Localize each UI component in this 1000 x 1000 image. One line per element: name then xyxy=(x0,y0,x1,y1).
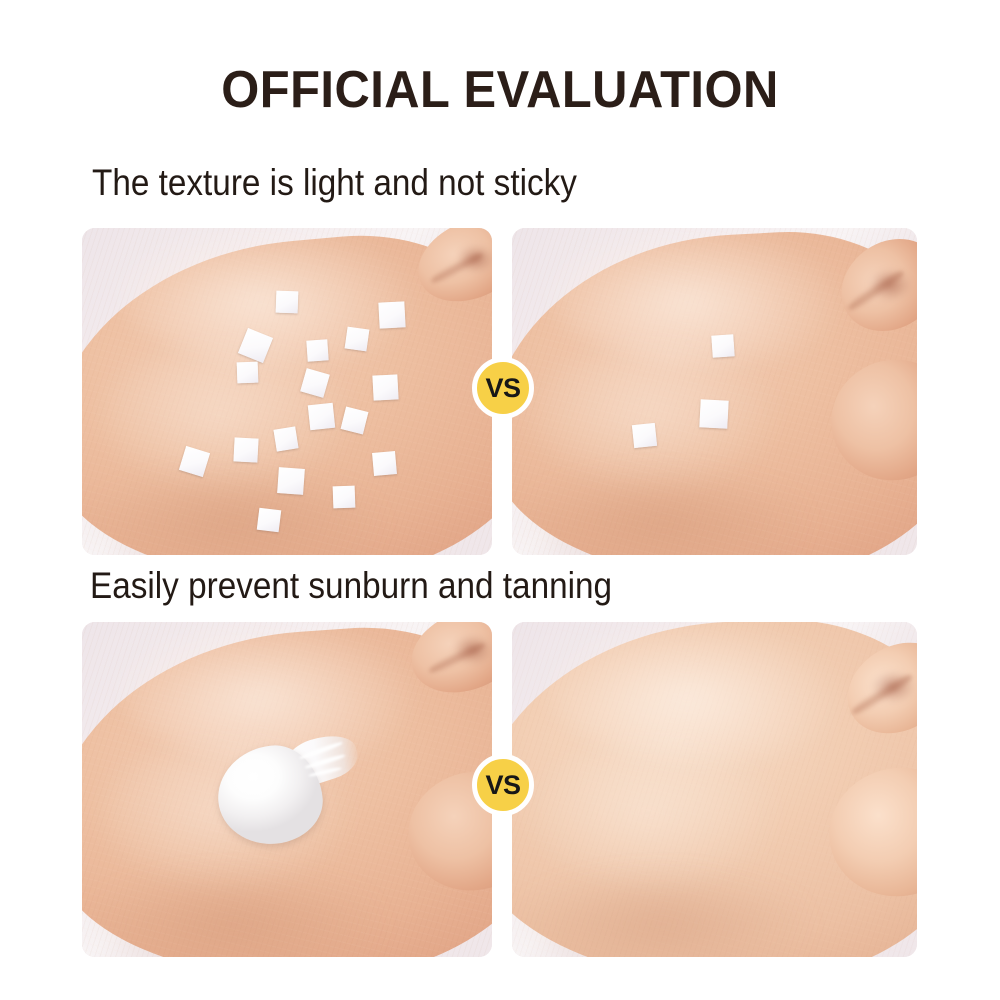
paper-chip xyxy=(273,426,298,451)
vs-badge-row2: VS xyxy=(472,754,534,816)
paper-chip xyxy=(306,339,328,361)
paper-chip xyxy=(333,486,356,509)
finger-gap-shadow xyxy=(450,634,492,666)
paper-chip xyxy=(345,327,370,352)
photo-panel-hand-with-cream[interactable] xyxy=(82,622,492,957)
photo-panel-hand-with-many-chips[interactable] xyxy=(82,228,492,555)
page-title: OFFICIAL EVALUATION xyxy=(30,60,970,120)
paper-chip xyxy=(276,291,299,314)
paper-chip xyxy=(372,374,398,400)
section-caption-texture: The texture is light and not sticky xyxy=(92,162,577,204)
paper-chip xyxy=(711,334,734,357)
finger-gap-shadow xyxy=(867,670,917,704)
paper-chip xyxy=(257,508,282,533)
cream-dollop xyxy=(212,732,362,847)
photo-image xyxy=(512,622,917,957)
photo-image xyxy=(82,228,492,555)
section-caption-sunburn: Easily prevent sunburn and tanning xyxy=(90,565,612,607)
paper-chip xyxy=(237,362,259,384)
product-evaluation-graphic: OFFICIAL EVALUATION The texture is light… xyxy=(0,0,1000,1000)
paper-chip xyxy=(233,437,258,462)
paper-chip xyxy=(277,467,305,495)
paper-chip xyxy=(632,423,657,448)
photo-panel-hand-with-few-chips[interactable] xyxy=(512,228,917,555)
paper-chip xyxy=(372,451,397,476)
photo-image xyxy=(512,228,917,555)
paper-chip xyxy=(378,301,405,328)
photo-image xyxy=(82,622,492,957)
finger-gap-shadow xyxy=(865,268,915,302)
paper-chip xyxy=(308,403,335,430)
paper-chip xyxy=(699,399,728,428)
finger-gap-shadow xyxy=(454,244,492,274)
photo-panel-hand-absorbed[interactable] xyxy=(512,622,917,957)
vs-badge-row1: VS xyxy=(472,357,534,419)
